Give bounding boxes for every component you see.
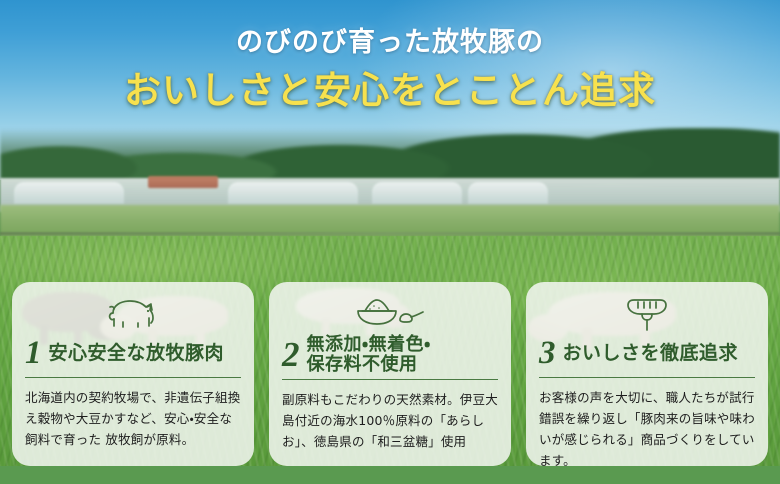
- feature-card-3: 3 おいしさを徹底追求 お客様の声を大切に、職人たちが試行錯誤を繰り返し「豚肉来…: [526, 282, 768, 466]
- card-1-number: 1: [25, 337, 42, 370]
- card-2-number: 2: [282, 337, 300, 372]
- card-1-body: 北海道内の契約牧場で、非遺伝子組換え穀物や大豆かすなど、安心・安全な飼料で育った…: [25, 387, 241, 450]
- headline-line-1: のびのび育った放牧豚の: [0, 22, 780, 62]
- card-2-title-line-1: 無添加・無着色・: [307, 334, 431, 354]
- headline: のびのび育った放牧豚の おいしさと安心をとことん追求: [0, 22, 780, 116]
- headline-line-2: おいしさと安心をとことん追求: [0, 68, 780, 116]
- card-2-title: 無添加・無着色・ 保存料不使用: [307, 334, 431, 374]
- card-3-body: お客様の声を大切に、職人たちが試行錯誤を繰り返し「豚肉来の旨味や味わいが感じられ…: [539, 387, 755, 471]
- greenhouse: [468, 182, 548, 204]
- salt-bowl-icon: [282, 292, 498, 334]
- card-1-heading: 1 安心安全な放牧豚肉: [25, 334, 241, 378]
- card-2-title-line-2: 保存料不使用: [307, 354, 418, 374]
- greenhouse: [372, 182, 462, 204]
- card-2-body: 副原料もこだわりの天然素材。伊豆大島付近の海水100％原料の「あらしお」、徳島県…: [282, 389, 498, 452]
- sausage-on-fork-icon: [539, 292, 755, 334]
- building-roof: [148, 176, 218, 188]
- feature-cards: 1 安心安全な放牧豚肉 北海道内の契約牧場で、非遺伝子組換え穀物や大豆かすなど、…: [0, 282, 780, 466]
- promo-banner: のびのび育った放牧豚の おいしさと安心をとことん追求 1 安心安全な放牧豚肉 北…: [0, 0, 780, 484]
- card-1-title: 安心安全な放牧豚肉: [49, 343, 225, 364]
- card-3-number: 3: [539, 337, 556, 370]
- pig-icon: [25, 292, 241, 334]
- greenhouse: [228, 182, 358, 204]
- feature-card-2: 2 無添加・無着色・ 保存料不使用 副原料もこだわりの天然素材。伊豆大島付近の海…: [269, 282, 511, 466]
- card-3-title: おいしさを徹底追求: [563, 343, 739, 364]
- feature-card-1: 1 安心安全な放牧豚肉 北海道内の契約牧場で、非遺伝子組換え穀物や大豆かすなど、…: [12, 282, 254, 466]
- card-2-heading: 2 無添加・無着色・ 保存料不使用: [282, 334, 498, 380]
- card-3-heading: 3 おいしさを徹底追求: [539, 334, 755, 378]
- fence-line: [0, 232, 780, 235]
- greenhouse: [14, 182, 124, 204]
